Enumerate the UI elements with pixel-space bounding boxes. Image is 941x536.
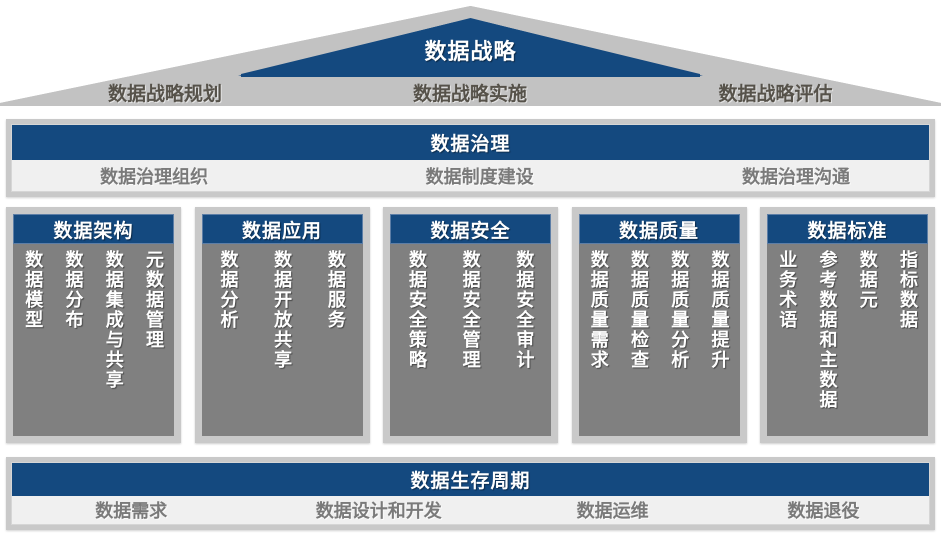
data-governance-banner: 数据治理 数据治理组织 数据制度建设 数据治理沟通 xyxy=(6,119,935,197)
pillar-items: 数据模型 数据分布 数据集成与共享 元数据管理 xyxy=(13,244,174,436)
pillar-item: 数据质量提升 xyxy=(710,250,728,370)
pillar-item: 数据集成与共享 xyxy=(104,250,122,390)
pillar-items: 数据质量需求 数据质量检查 数据质量分析 数据质量提升 xyxy=(579,244,740,436)
pillar-item: 数据分布 xyxy=(64,250,82,330)
roof-sub-evaluation: 数据战略评估 xyxy=(610,80,941,104)
pillar-item: 数据开放共享 xyxy=(273,250,291,370)
pillar-items: 业务术语 参考数据和主数据 数据元 指标数据 xyxy=(767,244,928,436)
pillar-item: 指标数据 xyxy=(899,250,917,330)
lifecycle-sub-operations: 数据运维 xyxy=(507,497,718,523)
pillar-data-architecture: 数据架构 数据模型 数据分布 数据集成与共享 元数据管理 xyxy=(6,207,181,443)
lifecycle-sub-design-development: 数据设计和开发 xyxy=(250,497,507,523)
governance-sub-policy: 数据制度建设 xyxy=(296,163,663,189)
pillar-item: 参考数据和主数据 xyxy=(818,250,836,410)
pillar-row: 数据架构 数据模型 数据分布 数据集成与共享 元数据管理 数据应用 数据分析 数… xyxy=(6,207,935,443)
lifecycle-sub-retirement: 数据退役 xyxy=(718,497,929,523)
pillar-item: 元数据管理 xyxy=(145,250,163,350)
roof-sub-labels: 数据战略规划 数据战略实施 数据战略评估 xyxy=(0,80,941,104)
data-strategy-roof: 数据战略 数据战略规划 数据战略实施 数据战略评估 xyxy=(0,0,941,106)
pillar-item: 数据元 xyxy=(858,250,876,310)
pillar-title: 数据应用 xyxy=(202,214,363,244)
pillar-data-standards: 数据标准 业务术语 参考数据和主数据 数据元 指标数据 xyxy=(760,207,935,443)
pillar-title: 数据安全 xyxy=(390,214,551,244)
pillar-item: 数据分析 xyxy=(219,250,237,330)
pillar-data-quality: 数据质量 数据质量需求 数据质量检查 数据质量分析 数据质量提升 xyxy=(572,207,747,443)
data-governance-pyramid-diagram: 数据战略 数据战略规划 数据战略实施 数据战略评估 数据治理 数据治理组织 数据… xyxy=(0,0,941,536)
lifecycle-inner-panel: 数据生存周期 数据需求 数据设计和开发 数据运维 数据退役 xyxy=(11,462,930,525)
roof-sub-planning: 数据战略规划 xyxy=(0,80,330,104)
pillar-item: 数据安全策略 xyxy=(408,250,426,370)
pillar-title: 数据质量 xyxy=(579,214,740,244)
pillar-item: 业务术语 xyxy=(778,250,796,330)
pillar-item: 数据模型 xyxy=(24,250,42,330)
pillar-data-application: 数据应用 数据分析 数据开放共享 数据服务 xyxy=(195,207,370,443)
lifecycle-title: 数据生存周期 xyxy=(12,463,929,496)
lifecycle-sub-requirements: 数据需求 xyxy=(12,497,250,523)
pillar-item: 数据质量检查 xyxy=(630,250,648,370)
governance-sub-organization: 数据治理组织 xyxy=(12,163,296,189)
pillar-item: 数据质量需求 xyxy=(589,250,607,370)
pillar-item: 数据安全管理 xyxy=(461,250,479,370)
governance-title: 数据治理 xyxy=(12,125,929,160)
governance-sub-labels: 数据治理组织 数据制度建设 数据治理沟通 xyxy=(12,160,929,191)
pillar-items: 数据安全策略 数据安全管理 数据安全审计 xyxy=(390,244,551,436)
pillar-item: 数据安全审计 xyxy=(515,250,533,370)
data-lifecycle-banner: 数据生存周期 数据需求 数据设计和开发 数据运维 数据退役 xyxy=(6,457,935,530)
lifecycle-sub-labels: 数据需求 数据设计和开发 数据运维 数据退役 xyxy=(12,496,929,524)
governance-sub-communication: 数据治理沟通 xyxy=(663,163,929,189)
roof-sub-implementation: 数据战略实施 xyxy=(330,80,610,104)
roof-title: 数据战略 xyxy=(0,34,941,66)
pillar-title: 数据标准 xyxy=(767,214,928,244)
pillar-data-security: 数据安全 数据安全策略 数据安全管理 数据安全审计 xyxy=(383,207,558,443)
pillar-item: 数据服务 xyxy=(326,250,344,330)
pillar-title: 数据架构 xyxy=(13,214,174,244)
pillar-item: 数据质量分析 xyxy=(670,250,688,370)
governance-inner-panel: 数据治理 数据治理组织 数据制度建设 数据治理沟通 xyxy=(11,124,930,192)
pillar-items: 数据分析 数据开放共享 数据服务 xyxy=(202,244,363,436)
